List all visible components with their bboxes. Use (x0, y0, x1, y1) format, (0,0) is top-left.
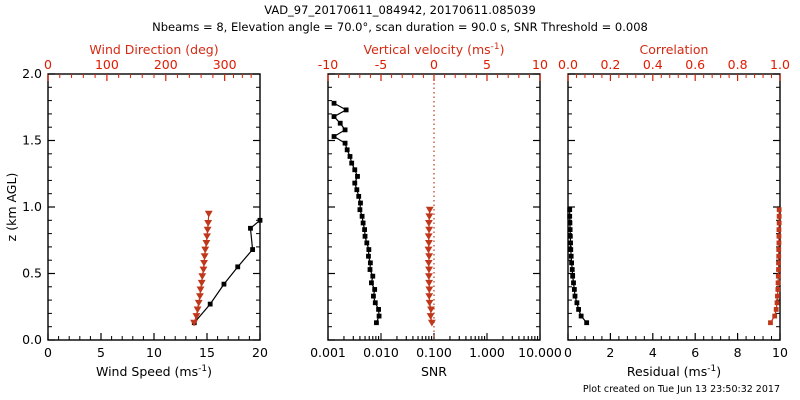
y-tick-label: 0.5 (22, 266, 42, 281)
x-tick-label-bottom: 5 (97, 345, 105, 360)
x-tick-label-top: -10 (318, 57, 338, 72)
data-point-marker (777, 241, 782, 246)
data-point-marker (568, 227, 573, 232)
x-tick-label-bottom: 2 (606, 345, 614, 360)
data-point-marker (768, 320, 773, 325)
figure-canvas: VAD_97_20170611_084942, 20170611.085039 … (0, 0, 800, 400)
x-axis-label-top-exp: -1 (491, 42, 500, 52)
data-point-marker (568, 234, 573, 239)
data-point-marker (366, 254, 371, 259)
x-tick-label-top: 0.0 (558, 57, 578, 72)
data-point-marker (777, 227, 782, 232)
data-point-marker (775, 294, 780, 299)
data-point-marker (352, 181, 357, 186)
x-axis-label-bottom-tail: ) (716, 364, 721, 379)
x-tick-label-top: 0 (430, 57, 438, 72)
data-point-marker (354, 187, 359, 192)
x-axis-label-bottom-exp: -1 (707, 364, 716, 374)
data-point-marker (366, 247, 371, 252)
data-point-marker (777, 214, 782, 219)
x-tick-label-bottom: 0.010 (363, 345, 399, 360)
data-point-marker (776, 254, 781, 259)
data-point-marker (235, 264, 240, 269)
data-point-marker (248, 226, 253, 231)
data-point-marker (776, 274, 781, 279)
data-point-marker (774, 307, 779, 312)
data-point-marker (775, 300, 780, 305)
x-tick-label-top: 0.4 (643, 57, 663, 72)
data-point-marker (358, 201, 363, 206)
y-axis-label: z (km AGL) (4, 173, 19, 242)
x-axis-label-bottom: Wind Speed (ms-1) (96, 364, 212, 379)
data-point-marker (568, 221, 573, 226)
data-point-marker (361, 221, 366, 226)
data-point-marker (569, 260, 574, 265)
data-point-marker (352, 167, 357, 172)
y-tick-label: 0.0 (22, 332, 42, 347)
data-point-marker (776, 260, 781, 265)
data-point-marker (372, 287, 377, 292)
x-axis-label-top-tail: ) (500, 42, 505, 57)
y-tick-label: 2.0 (22, 66, 42, 81)
data-point-marker (572, 287, 577, 292)
data-point-marker (258, 218, 263, 223)
data-point-marker (575, 300, 580, 305)
data-point-marker (373, 300, 378, 305)
data-point-marker (368, 260, 373, 265)
data-point-marker (338, 121, 343, 126)
data-point-marker (355, 174, 360, 179)
data-point-marker (776, 247, 781, 252)
data-point-marker (360, 214, 365, 219)
figure-title-line1: VAD_97_20170611_084942, 20170611.085039 (264, 3, 536, 17)
data-point-marker (343, 141, 348, 146)
x-tick-label-top: 0.6 (685, 57, 705, 72)
data-point-marker (777, 234, 782, 239)
x-tick-label-top: 100 (95, 57, 119, 72)
x-tick-label-top: 0.8 (728, 57, 748, 72)
x-tick-label-top: -5 (375, 57, 387, 72)
data-point-marker (332, 114, 337, 119)
data-point-marker (370, 274, 375, 279)
y-tick-label: 1.0 (22, 199, 42, 214)
x-axis-label-bottom-main: Residual (ms (627, 364, 707, 379)
data-point-marker (362, 227, 367, 232)
data-point-marker (775, 287, 780, 292)
plot-created-footer: Plot created on Tue Jun 13 23:50:32 2017 (583, 384, 780, 395)
data-point-marker (570, 274, 575, 279)
x-tick-label-bottom: 10 (772, 345, 788, 360)
x-axis-label-bottom: SNR (421, 364, 447, 379)
x-tick-label-top: 5 (483, 57, 491, 72)
data-point-marker (576, 307, 581, 312)
data-point-marker (573, 294, 578, 299)
x-tick-label-bottom: 0 (564, 345, 572, 360)
x-tick-label-bottom: 8 (734, 345, 742, 360)
x-tick-label-bottom: 0.001 (310, 345, 346, 360)
data-point-marker (358, 207, 363, 212)
x-axis-label-top: Wind Direction (deg) (89, 42, 218, 57)
data-point-marker (567, 214, 572, 219)
x-tick-label-bottom: 15 (199, 345, 215, 360)
data-point-marker (568, 247, 573, 252)
figure-title-line2: Nbeams = 8, Elevation angle = 70.0°, sca… (152, 20, 648, 34)
x-axis-label-top-main: Correlation (640, 42, 709, 57)
data-point-marker (356, 194, 361, 199)
y-tick-label: 1.5 (22, 133, 42, 148)
data-point-marker (376, 307, 381, 312)
data-point-marker (772, 314, 777, 319)
data-point-marker (777, 221, 782, 226)
data-point-marker (364, 241, 369, 246)
data-point-marker (348, 154, 353, 159)
data-point-marker (369, 280, 374, 285)
data-point-marker (250, 247, 255, 252)
data-point-marker (377, 314, 382, 319)
data-point-marker (345, 147, 350, 152)
x-axis-label-bottom-exp: -1 (198, 364, 207, 374)
vad-plot-figure: VAD_97_20170611_084942, 20170611.085039 … (0, 0, 800, 400)
x-axis-label-top: Correlation (640, 42, 709, 57)
data-point-marker (570, 267, 575, 272)
data-point-marker (371, 294, 376, 299)
data-point-marker (368, 267, 373, 272)
data-point-marker (222, 282, 227, 287)
x-tick-label-top: 1.0 (770, 57, 790, 72)
x-tick-label-bottom: 20 (252, 345, 268, 360)
x-tick-label-top: 0.2 (600, 57, 620, 72)
x-tick-label-top: 0 (44, 57, 52, 72)
data-point-marker (363, 234, 368, 239)
data-point-marker (344, 108, 349, 113)
data-point-marker (332, 134, 337, 139)
x-tick-label-bottom: 0.100 (416, 345, 452, 360)
x-axis-label-top-main: Vertical velocity (ms (363, 42, 490, 57)
data-point-marker (777, 207, 782, 212)
x-axis-label-top: Vertical velocity (ms-1) (363, 42, 504, 57)
x-tick-label-bottom: 1.000 (469, 345, 505, 360)
data-point-marker (579, 314, 584, 319)
data-point-marker (374, 320, 379, 325)
data-point-marker (343, 127, 348, 132)
x-tick-label-bottom: 10 (146, 345, 162, 360)
data-point-marker (349, 161, 354, 166)
x-axis-label-bottom-main: Wind Speed (ms (96, 364, 198, 379)
x-tick-label-bottom: 0 (44, 345, 52, 360)
data-point-marker (208, 302, 213, 307)
x-tick-label-top: 300 (213, 57, 237, 72)
data-point-marker (332, 101, 337, 106)
x-tick-label-top: 10 (532, 57, 548, 72)
x-axis-label-bottom-main: SNR (421, 364, 447, 379)
x-tick-label-bottom: 10.000 (518, 345, 562, 360)
data-point-marker (776, 267, 781, 272)
x-axis-label-top-main: Wind Direction (deg) (89, 42, 218, 57)
x-axis-label-bottom-tail: ) (207, 364, 212, 379)
x-tick-label-top: 200 (154, 57, 178, 72)
data-point-marker (584, 320, 589, 325)
data-point-marker (569, 254, 574, 259)
x-tick-label-bottom: 6 (691, 345, 699, 360)
data-point-marker (568, 241, 573, 246)
data-point-marker (571, 280, 576, 285)
x-axis-label-bottom: Residual (ms-1) (627, 364, 721, 379)
data-point-marker (776, 280, 781, 285)
data-point-marker (567, 207, 572, 212)
x-tick-label-bottom: 4 (649, 345, 657, 360)
